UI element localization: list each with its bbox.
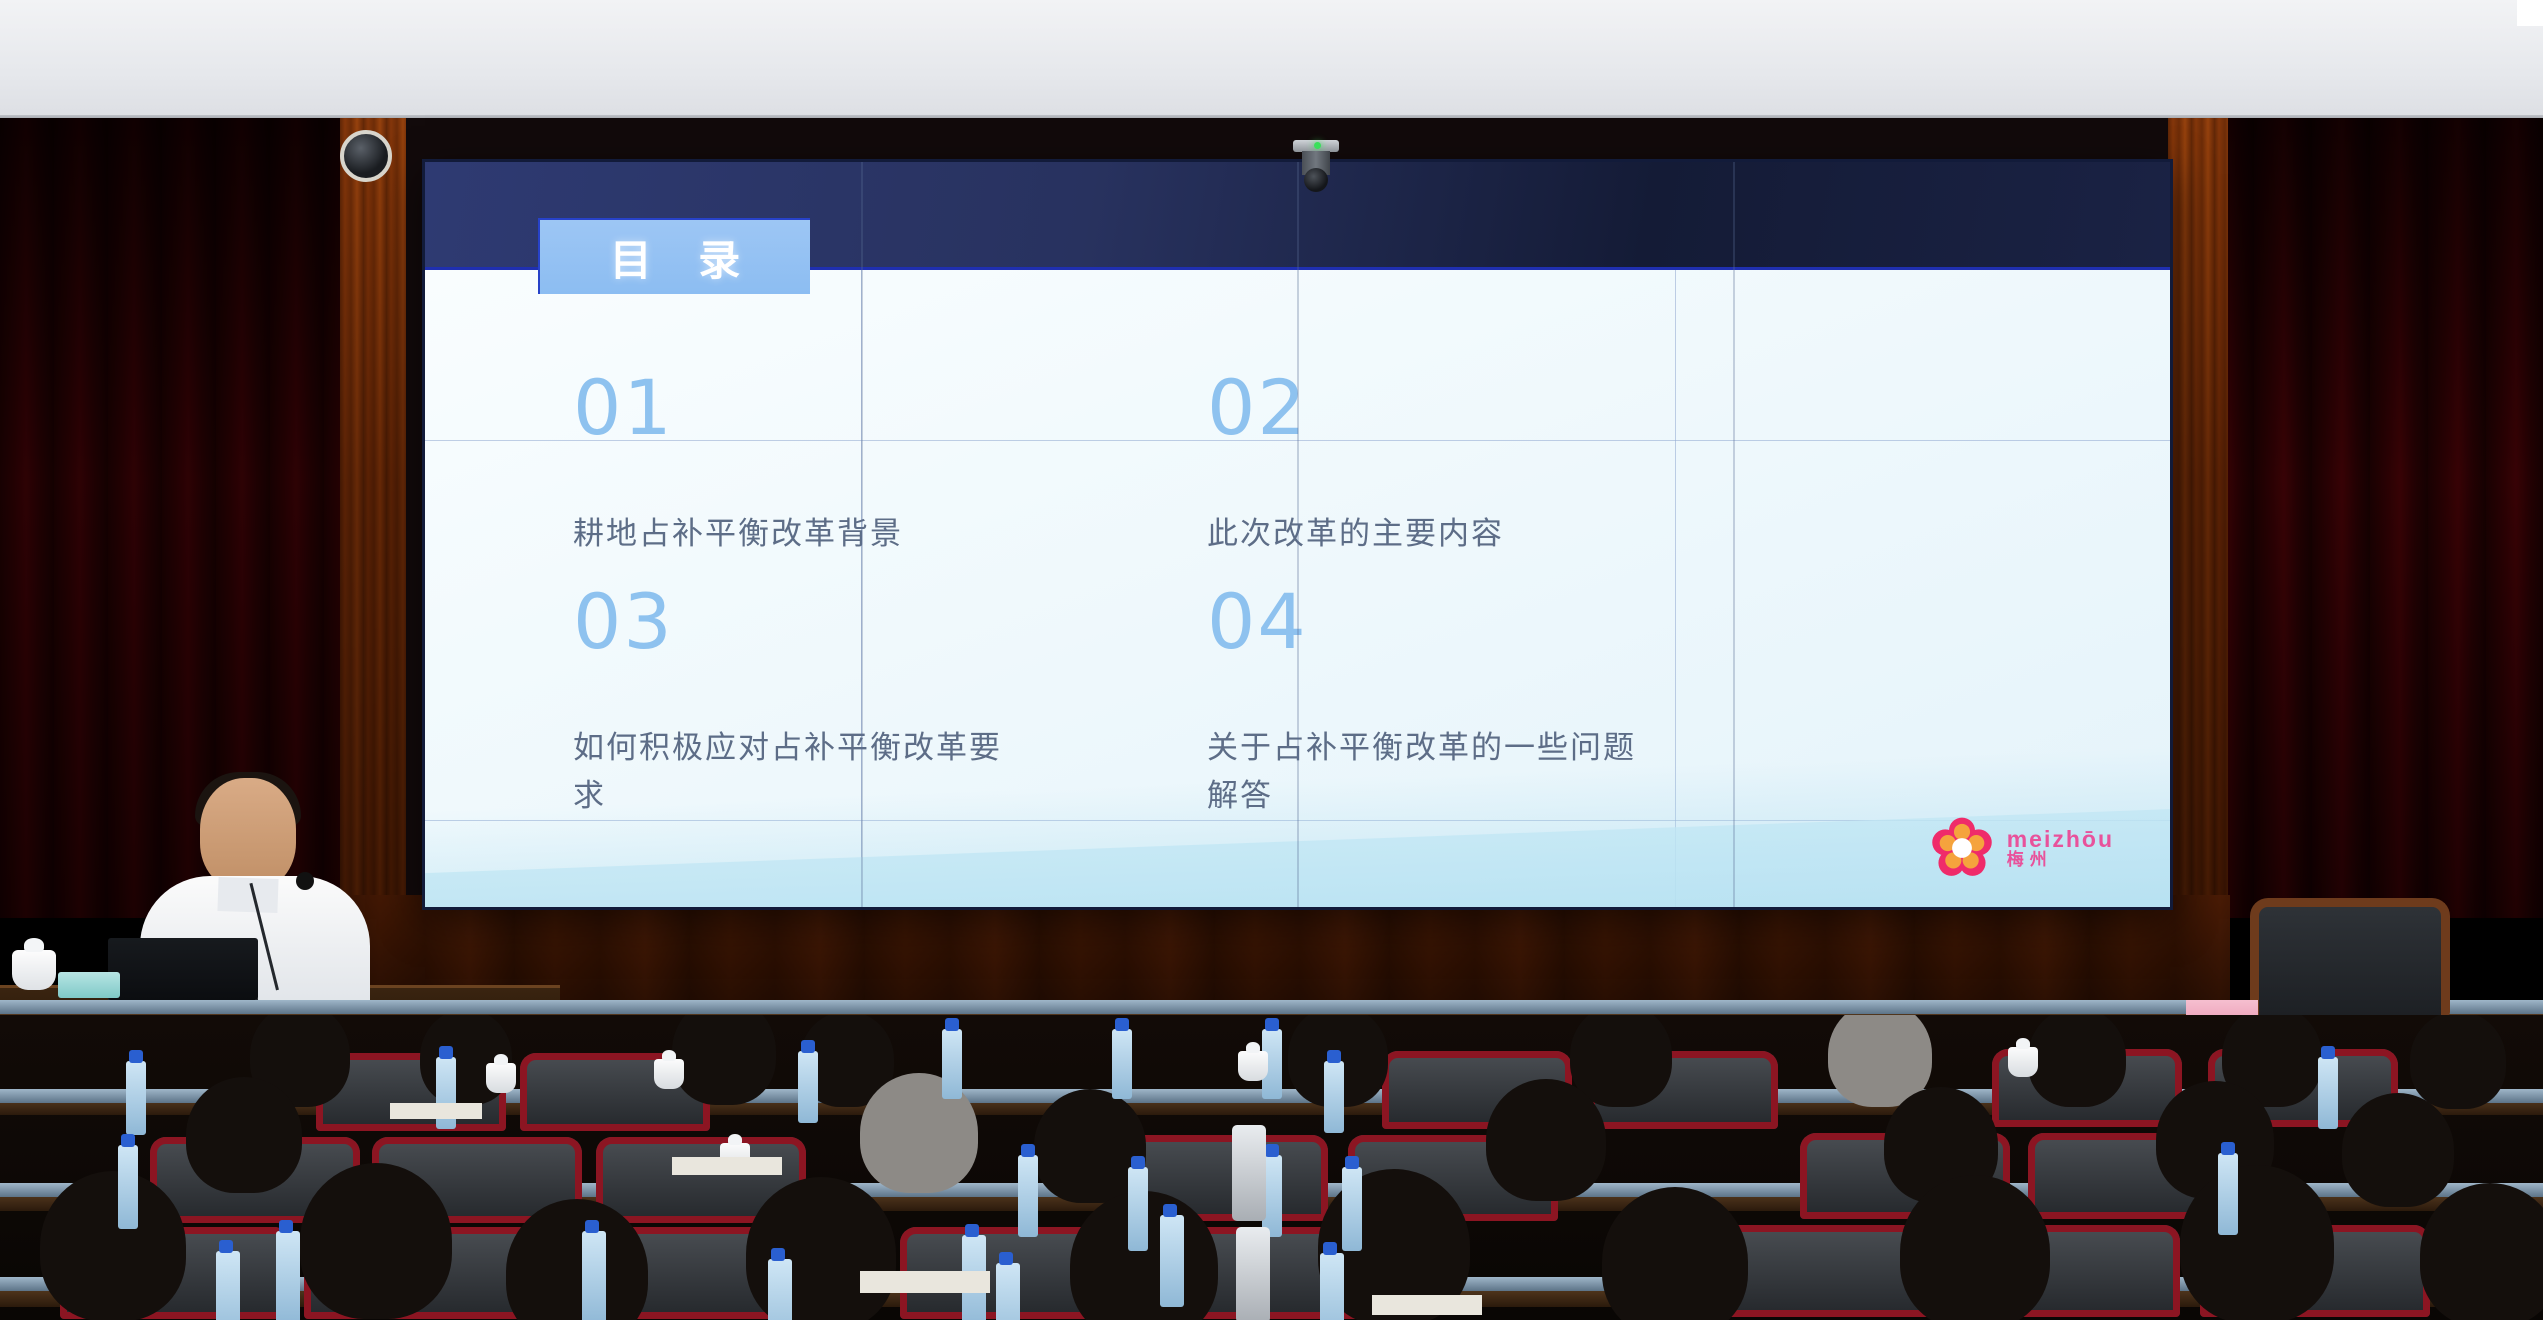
audience-head (2342, 1093, 2454, 1207)
tea-cup (1238, 1051, 1268, 1081)
audience-area (0, 1015, 2543, 1320)
panel-seam-3 (1733, 162, 1735, 907)
audience-head (672, 1015, 776, 1105)
water-bottle (118, 1145, 138, 1229)
frame-corner-notch (2517, 0, 2543, 26)
vip-chair (2250, 898, 2450, 1016)
toc-item-03[interactable]: 03 如何积极应对占补平衡改革要求 (573, 584, 1043, 820)
toc-item-04[interactable]: 04 关于占补平衡改革的一些问题解答 (1207, 584, 1677, 820)
water-bottle (1112, 1029, 1132, 1099)
wood-pillar-right (2168, 118, 2228, 918)
ceiling (0, 0, 2543, 122)
thermos (1236, 1227, 1270, 1320)
panel-seam-1 (861, 162, 863, 907)
thermos (1232, 1125, 1266, 1221)
conference-hall-scene: 目 录 01 耕地占补平衡改革背景 02 此次改革的主要内容 03 (0, 0, 2543, 1320)
logo-pinyin: meizhōu (2007, 827, 2114, 851)
toc-label-04: 关于占补平衡改革的一些问题解答 (1207, 724, 1657, 820)
water-bottle (798, 1051, 818, 1123)
dome-speaker-icon (340, 130, 392, 182)
presentation-slide: 目 录 01 耕地占补平衡改革背景 02 此次改革的主要内容 03 (425, 162, 2170, 907)
toc-label-02: 此次改革的主要内容 (1207, 510, 1504, 558)
laptop (108, 938, 258, 1000)
paper-document (390, 1103, 482, 1119)
water-bottle (996, 1263, 1020, 1320)
toc-item-01[interactable]: 01 耕地占补平衡改革背景 (573, 370, 903, 558)
toc-number-04: 04 (1207, 584, 1677, 660)
water-bottle (942, 1029, 962, 1099)
tissue-box (58, 972, 120, 998)
stage-curtain-right (2196, 118, 2543, 918)
water-bottle (582, 1231, 606, 1320)
toc-item-02[interactable]: 02 此次改革的主要内容 (1207, 370, 1504, 558)
toc-number-02: 02 (1207, 370, 1504, 446)
water-bottle (1018, 1155, 1038, 1237)
water-bottle (1320, 1253, 1344, 1320)
water-bottle (126, 1061, 146, 1135)
water-bottle (1160, 1215, 1184, 1307)
water-bottle (2218, 1153, 2238, 1235)
water-bottle (1324, 1061, 1344, 1133)
panel-seam-2 (1297, 162, 1299, 907)
audience-head (2180, 1165, 2334, 1320)
toc-number-03: 03 (573, 584, 1043, 660)
meizhou-logo-text: meizhōu 梅州 (2007, 827, 2114, 869)
toc-label-03: 如何积极应对占补平衡改革要求 (573, 724, 1023, 820)
tea-cup (2008, 1047, 2038, 1077)
tea-cup (486, 1063, 516, 1093)
audience-head (186, 1077, 302, 1193)
water-bottle (1128, 1167, 1148, 1251)
audience-head (1900, 1175, 2050, 1320)
wood-wall-panel (340, 895, 2230, 1015)
water-bottle (276, 1231, 300, 1320)
paper-document (1372, 1295, 1482, 1315)
paper-document (672, 1157, 782, 1175)
audience-head (40, 1171, 186, 1320)
meizhou-logo: meizhōu 梅州 (1931, 817, 2114, 879)
tea-cup (654, 1059, 684, 1089)
teacup (12, 950, 56, 990)
presenter-collar (217, 877, 278, 913)
logo-chinese: 梅州 (2007, 851, 2114, 869)
water-bottle (2318, 1057, 2338, 1129)
water-bottle (216, 1251, 240, 1320)
audience-head (1486, 1079, 1606, 1201)
water-bottle (1342, 1167, 1362, 1251)
toc-label-01: 耕地占补平衡改革背景 (573, 510, 903, 558)
led-video-wall[interactable]: 目 录 01 耕地占补平衡改革背景 02 此次改革的主要内容 03 (425, 162, 2170, 907)
page-title: 目 录 (594, 227, 757, 288)
water-bottle (768, 1259, 792, 1320)
audience-head (2410, 1015, 2506, 1109)
paper-document (860, 1271, 990, 1293)
plum-blossom-icon (1931, 817, 1993, 879)
toc-number-01: 01 (573, 370, 903, 446)
audience-head (2028, 1015, 2126, 1107)
microphone-head-icon (296, 872, 314, 890)
slide-title-chip: 目 录 (538, 218, 810, 294)
audience-head (300, 1163, 452, 1319)
presenter-head (200, 778, 296, 890)
ptz-camera-icon (1293, 140, 1339, 198)
